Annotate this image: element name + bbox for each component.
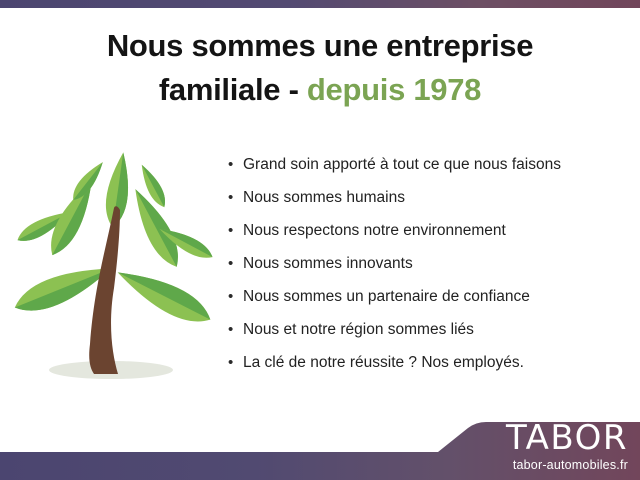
footer-band: TABOR tabor-automobiles.fr — [0, 400, 640, 480]
brand-logo-domain: tabor-automobiles.fr — [506, 458, 628, 472]
list-item: • Nous sommes humains — [228, 181, 632, 214]
list-item: • Nous sommes innovants — [228, 247, 632, 280]
list-item-label: Nous sommes innovants — [243, 247, 632, 280]
list-item: • Nous et notre région sommes liés — [228, 313, 632, 346]
bullet-marker-icon: • — [228, 346, 243, 379]
brand-logo-wordmark: TABOR — [506, 421, 628, 455]
bullet-marker-icon: • — [228, 214, 243, 247]
bullet-marker-icon: • — [228, 313, 243, 346]
bullet-marker-icon: • — [228, 181, 243, 214]
slide-canvas: Nous sommes une entreprise familiale - d… — [0, 0, 640, 480]
bullet-marker-icon: • — [228, 280, 243, 313]
list-item-label: Nous sommes humains — [243, 181, 632, 214]
bullet-marker-icon: • — [228, 247, 243, 280]
bullet-marker-icon: • — [228, 148, 243, 181]
page-title-line-2: familiale - depuis 1978 — [0, 68, 640, 112]
value-bullet-list: • Grand soin apporté à tout ce que nous … — [228, 148, 632, 379]
page-title-line-2-black: familiale - — [159, 72, 299, 107]
top-accent-bar — [0, 0, 640, 8]
list-item: • Grand soin apporté à tout ce que nous … — [228, 148, 632, 181]
page-title-line-1: Nous sommes une entreprise — [107, 28, 533, 63]
list-item: • Nous sommes un partenaire de confiance — [228, 280, 632, 313]
tree-trunk — [89, 206, 120, 374]
list-item-label: Nous sommes un partenaire de confiance — [243, 280, 632, 313]
tree-illustration — [8, 148, 220, 394]
list-item-label: Nous et notre région sommes liés — [243, 313, 632, 346]
list-item-label: Nous respectons notre environnement — [243, 214, 632, 247]
list-item-label: Grand soin apporté à tout ce que nous fa… — [243, 148, 632, 181]
leaf — [112, 260, 217, 331]
brand-logo[interactable]: TABOR tabor-automobiles.fr — [506, 421, 628, 472]
list-item: • La clé de notre réussite ? Nos employé… — [228, 346, 632, 379]
list-item-label: La clé de notre réussite ? Nos employés. — [243, 346, 632, 379]
page-title: Nous sommes une entreprise familiale - d… — [0, 24, 640, 112]
list-item: • Nous respectons notre environnement — [228, 214, 632, 247]
page-title-highlight: depuis 1978 — [307, 72, 481, 107]
